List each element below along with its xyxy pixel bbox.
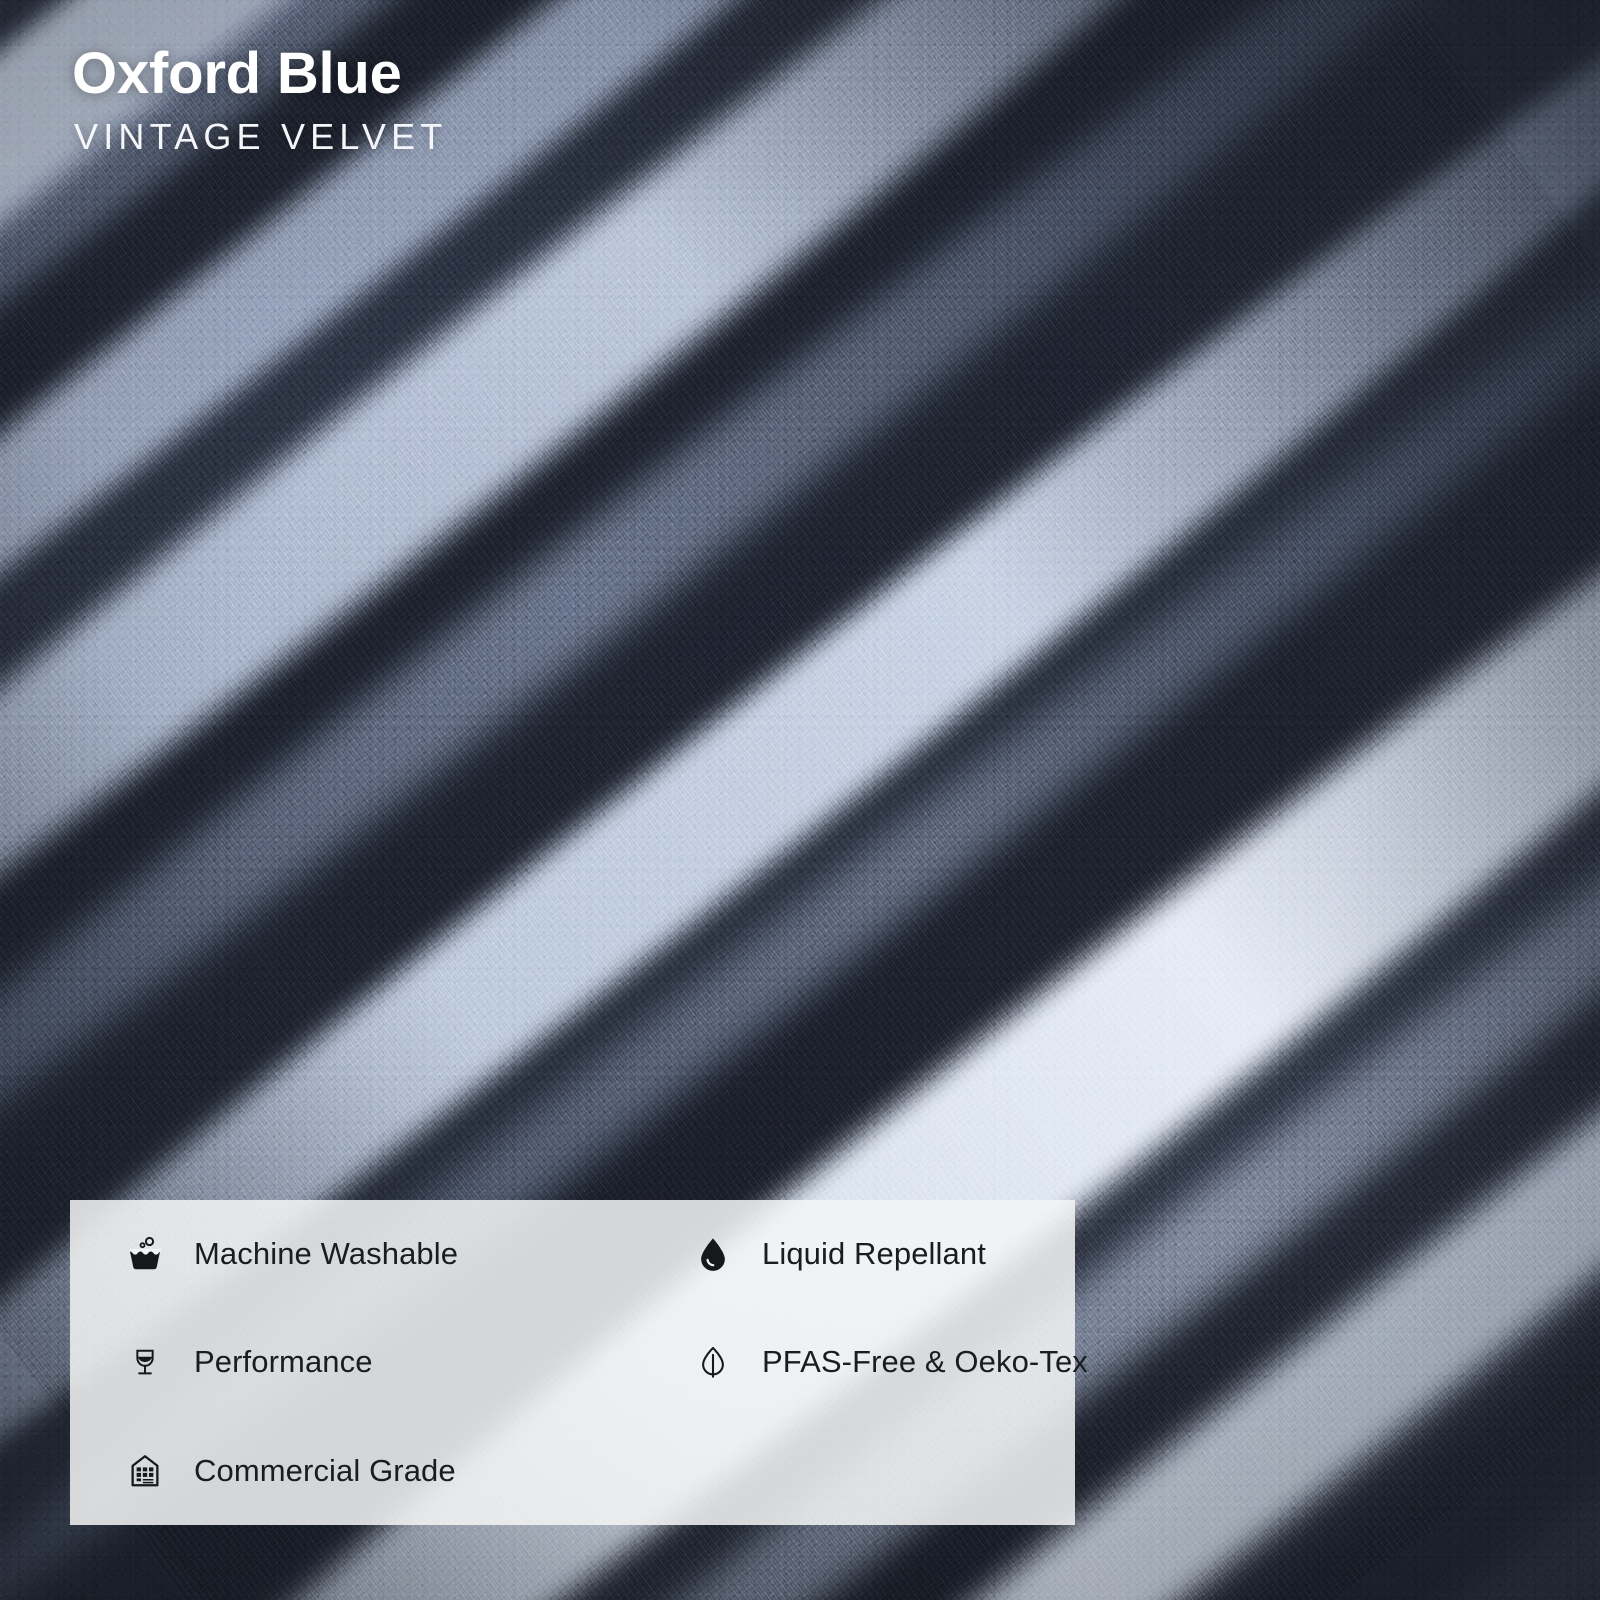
feature-item-pfas-free-oeko-tex: PFAS-Free & Oeko-Tex (638, 1308, 1088, 1416)
leaf-icon (692, 1341, 734, 1383)
water-droplet-icon (692, 1233, 734, 1275)
page-subtitle: VINTAGE VELVET (74, 119, 448, 155)
feature-label: Liquid Repellant (762, 1236, 986, 1272)
feature-item-performance: Performance (70, 1308, 638, 1416)
feature-item-liquid-repellant: Liquid Repellant (638, 1200, 1088, 1308)
page-title: Oxford Blue (72, 44, 448, 105)
feature-label: Commercial Grade (194, 1453, 456, 1489)
feature-label: PFAS-Free & Oeko-Tex (762, 1344, 1088, 1380)
feature-panel: Machine Washable Liquid Repellant (70, 1200, 1075, 1525)
feature-label: Machine Washable (194, 1236, 458, 1272)
wine-glass-icon (124, 1341, 166, 1383)
feature-item-machine-washable: Machine Washable (70, 1200, 638, 1308)
product-header: Oxford Blue VINTAGE VELVET (72, 44, 448, 155)
feature-item-commercial-grade: Commercial Grade (70, 1417, 638, 1525)
building-icon (124, 1450, 166, 1492)
washing-machine-icon (124, 1233, 166, 1275)
feature-label: Performance (194, 1344, 373, 1380)
product-swatch-card: Oxford Blue VINTAGE VELVET Machine Washa… (0, 0, 1600, 1600)
